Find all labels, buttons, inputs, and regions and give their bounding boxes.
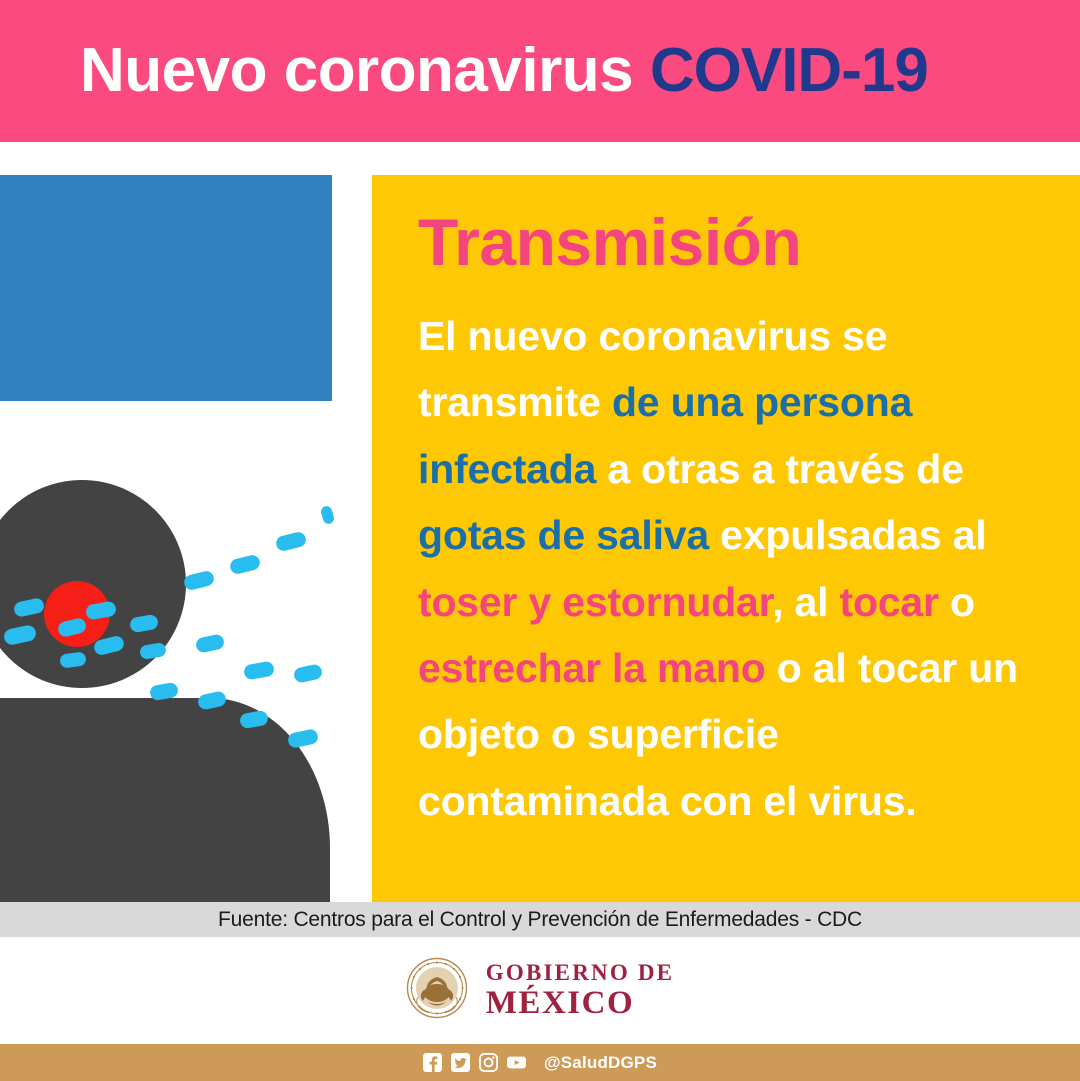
youtube-icon[interactable] (507, 1053, 526, 1072)
saliva-droplet (320, 505, 336, 525)
page-title-main: Nuevo coronavirus (80, 36, 633, 105)
source-text: Fuente: Centros para el Control y Preven… (218, 908, 862, 932)
panel-body-text: El nuevo coronavirus se transmite de una… (418, 303, 1036, 834)
body-segment: toser y estornudar (418, 579, 772, 625)
social-handle: @SaludDGPS (544, 1053, 657, 1073)
source-bar: Fuente: Centros para el Control y Preven… (0, 902, 1080, 937)
government-logo-area: GOBIERNO DE MÉXICO (0, 937, 1080, 1044)
body-segment: , al (772, 579, 839, 625)
body-segment: o (950, 579, 975, 625)
mexico-coat-of-arms-icon (406, 957, 468, 1024)
twitter-icon[interactable] (451, 1053, 470, 1072)
saliva-droplet (183, 570, 216, 592)
body-segment: estrechar la mano (418, 645, 777, 691)
content-panel: Transmisión El nuevo coronavirus se tran… (372, 175, 1080, 935)
logo-line-mexico: MÉXICO (486, 987, 674, 1020)
body-segment: a otras a través de (607, 446, 963, 492)
logo-line-gobierno: GOBIERNO DE (486, 961, 674, 984)
body-segment: expulsadas al (720, 512, 986, 558)
logo-wordmark: GOBIERNO DE MÉXICO (486, 961, 674, 1020)
body-segment: gotas de saliva (418, 512, 720, 558)
page-title: Nuevo coronavirus COVID-19 (80, 40, 928, 102)
social-footer-bar: @SaludDGPS (0, 1044, 1080, 1081)
saliva-droplet (195, 633, 226, 653)
page-header: Nuevo coronavirus COVID-19 (0, 0, 1080, 142)
saliva-droplet (243, 661, 275, 681)
saliva-droplet (229, 554, 262, 576)
person-torso-shape (0, 698, 330, 902)
header-divider (0, 142, 1080, 175)
page-title-covid: COVID-19 (650, 36, 928, 105)
saliva-droplet (275, 531, 308, 553)
saliva-droplet (293, 663, 324, 683)
illustration-panel (0, 175, 372, 902)
saliva-droplet (287, 728, 319, 749)
body-segment: tocar (840, 579, 950, 625)
instagram-icon[interactable] (479, 1053, 498, 1072)
blue-background-block (0, 175, 332, 401)
logo-lockup: GOBIERNO DE MÉXICO (406, 957, 674, 1024)
panel-heading: Transmisión (418, 205, 1036, 281)
facebook-icon[interactable] (423, 1053, 442, 1072)
